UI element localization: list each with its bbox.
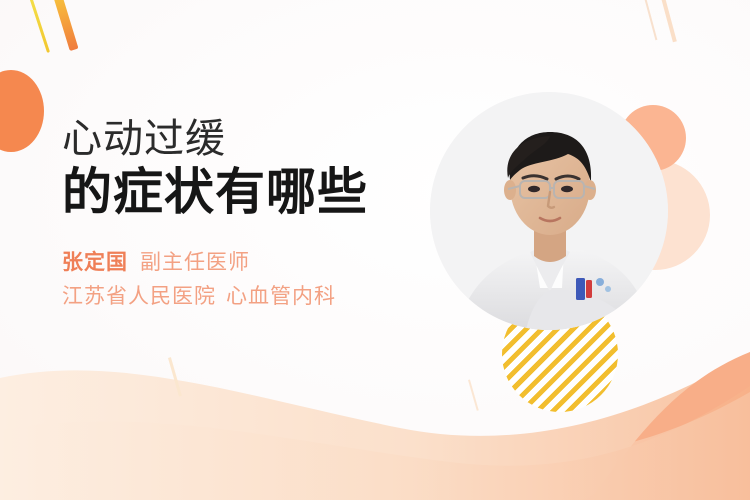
doctor-name: 张定国 [62,251,128,274]
byline-block: 张定国副主任医师 江苏省人民医院心血管内科 [62,246,336,314]
department-name: 心血管内科 [226,285,336,308]
doctor-title: 副主任医师 [140,251,250,274]
byline-line-1: 张定国副主任医师 [62,246,336,280]
doctor-portrait [430,92,668,330]
promo-card: 心动过缓 的症状有哪些 张定国副主任医师 江苏省人民医院心血管内科 [0,0,750,500]
hospital-name: 江苏省人民医院 [62,285,216,308]
title-line-1: 心动过缓 [62,116,392,162]
title-line-2: 的症状有哪些 [62,164,392,220]
byline-line-2: 江苏省人民医院心血管内科 [62,280,336,314]
title-block: 心动过缓 的症状有哪些 [62,116,392,220]
